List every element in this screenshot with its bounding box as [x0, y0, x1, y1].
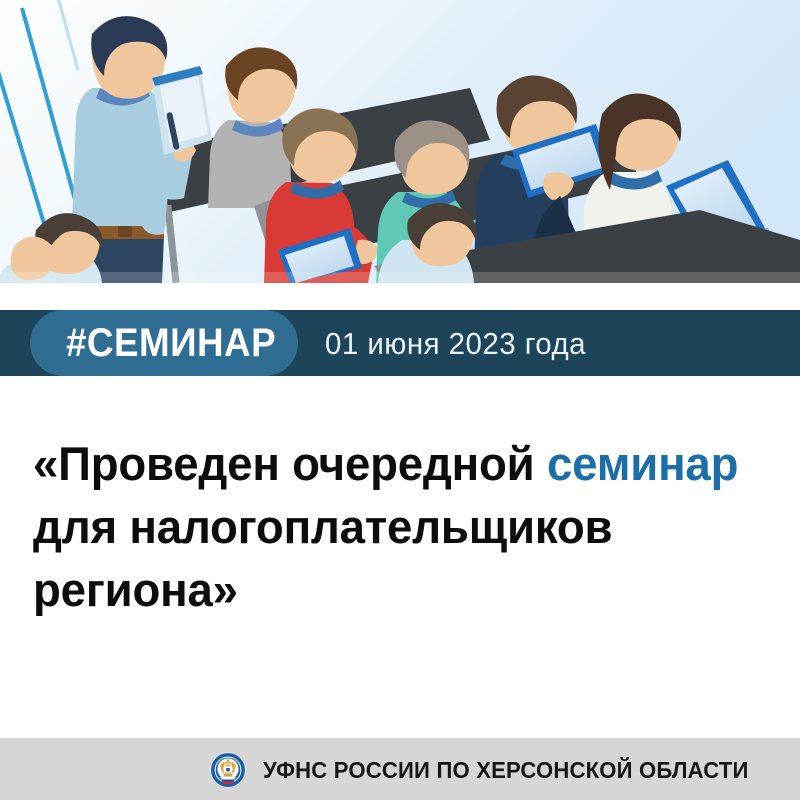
page-title: «Проведен очередной семинар для налогопл…: [33, 432, 751, 621]
seminar-banner: #СЕМИНАР 01 июня 2023 года: [0, 310, 800, 376]
banner-date-label: 01 июня 2023 года: [325, 310, 586, 376]
headline-line2: для налогоплательщиков: [33, 500, 612, 553]
footer-organization-label: УФНС РОССИИ ПО ХЕРСОНСКОЙ ОБЛАСТИ: [263, 738, 749, 800]
fns-russia-emblem-icon: [210, 752, 246, 788]
poster-root: #СЕМИНАР 01 июня 2023 года «Проведен оче…: [0, 0, 800, 800]
headline-line1-prefix: «Проведен очередной: [33, 437, 547, 490]
headline-line3: региона»: [33, 563, 238, 616]
headline-accent-word: семинар: [547, 437, 738, 490]
footer-bar: УФНС РОССИИ ПО ХЕРСОНСКОЙ ОБЛАСТИ: [0, 738, 800, 800]
banner-hashtag-label: #СЕМИНАР: [66, 310, 276, 376]
seminar-audience-illustration: [0, 0, 800, 283]
